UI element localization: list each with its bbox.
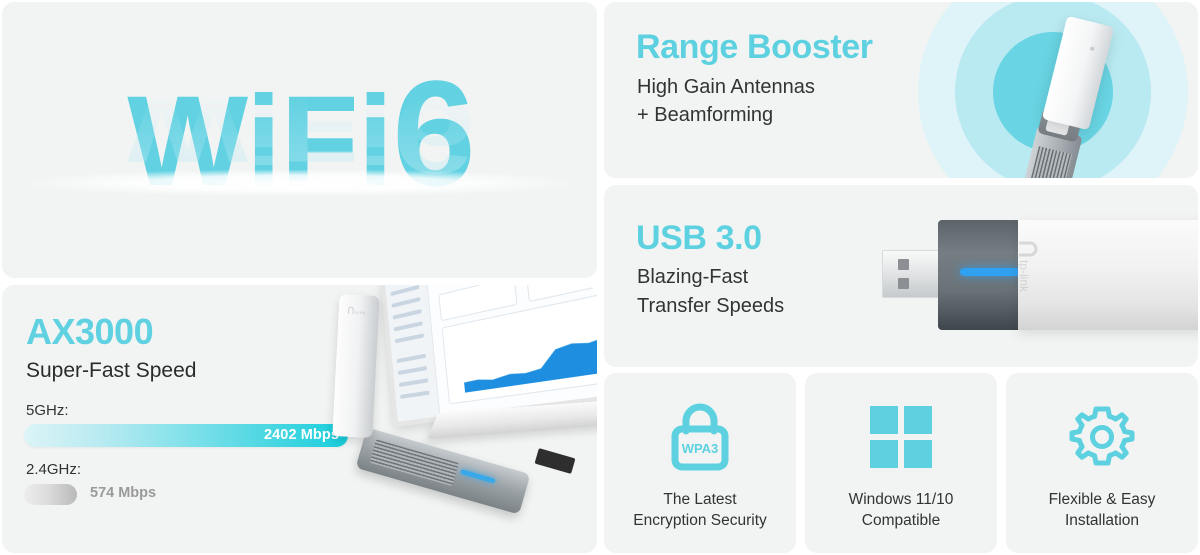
ax3000-speed-panel: AX3000 Super-Fast Speed 5GHz: 2402 Mbps … [2, 285, 597, 553]
laptop-dashboard-ui [385, 285, 597, 421]
antenna-dot [1090, 46, 1095, 51]
ax3000-title: AX3000 [26, 311, 153, 353]
usb-light-housing: tp-link [1018, 220, 1198, 330]
feature-card-encryption: WPA3 The Latest Encryption Security [604, 373, 796, 553]
range-booster-title: Range Booster [636, 28, 873, 67]
speed-bar-24ghz [24, 484, 77, 505]
usb-connector-pin-top [898, 259, 909, 270]
usb3-panel: USB 3.0 Blazing-Fast Transfer Speeds tp-… [604, 185, 1198, 367]
range-booster-line2: + Beamforming [637, 104, 773, 127]
range-adapter-vents [1030, 146, 1072, 178]
usb-adapter-graphic: tp-link [882, 218, 1198, 334]
feature-card-installation: Flexible & Easy Installation [1006, 373, 1198, 553]
svg-text:tp-link: tp-link [355, 310, 365, 316]
feature-card-windows: Windows 11/10 Compatible [805, 373, 997, 553]
wpa3-badge-text: WPA3 [682, 441, 719, 456]
feature-card-label-windows: Windows 11/10 Compatible [811, 489, 991, 531]
chart-area-series [461, 328, 597, 392]
dashboard-sidebar [385, 285, 440, 421]
windows-line1: Windows 11/10 [849, 491, 954, 508]
feature-card-label-installation: Flexible & Easy Installation [1012, 489, 1192, 531]
wifi6-glow-strip [32, 170, 567, 196]
wifi6-hero-panel: WiFi6 WiFi6 [2, 2, 597, 278]
adapter-antenna: tp-link [332, 294, 379, 438]
band-label-5ghz: 5GHz: [26, 402, 69, 419]
range-booster-line1: High Gain Antennas [637, 76, 815, 99]
range-booster-panel: Range Booster High Gain Antennas + Beamf… [604, 2, 1198, 178]
tp-link-logo-icon: tp-link [1011, 238, 1038, 312]
gear-icon [1006, 401, 1198, 473]
speed-value-24ghz: 574 Mbps [90, 485, 156, 501]
usb3-line2: Transfer Speeds [637, 295, 784, 318]
feature-card-label-encryption: The Latest Encryption Security [610, 489, 790, 531]
product-feature-board: WiFi6 WiFi6 AX3000 Super-Fast Speed 5GHz… [0, 0, 1200, 555]
windows-line2: Compatible [862, 512, 940, 529]
ax3000-subtitle: Super-Fast Speed [26, 359, 196, 383]
band-label-24ghz: 2.4GHz: [26, 461, 81, 478]
laptop-usb-port [535, 448, 576, 474]
signal-rings-graphic [908, 2, 1198, 178]
usb3-title: USB 3.0 [636, 219, 762, 258]
wifi6-logo: WiFi6 WiFi6 [2, 2, 597, 278]
usb-connector-pin-bottom [898, 278, 909, 289]
windows-logo-icon [805, 401, 997, 473]
tp-link-logo-icon: tp-link [347, 306, 365, 316]
usb-connector [882, 250, 942, 298]
usb3-line1: Blazing-Fast [637, 266, 748, 289]
usb-adapter-body [356, 427, 531, 514]
wifi6-word-reflection: WiFi [127, 78, 392, 181]
encryption-line1: The Latest [663, 491, 736, 508]
encryption-line2: Encryption Security [633, 512, 767, 529]
adapter-led-indicator [460, 469, 496, 484]
speed-bar-5ghz: 2402 Mbps [24, 424, 348, 447]
installation-line2: Installation [1065, 512, 1139, 529]
installation-line1: Flexible & Easy [1049, 491, 1156, 508]
tp-link-logo-text: tp-link [1017, 260, 1031, 293]
laptop-adapter-photo: tp-link [322, 285, 597, 553]
lock-wpa3-icon: WPA3 [604, 401, 796, 473]
adapter-vents [370, 439, 459, 486]
